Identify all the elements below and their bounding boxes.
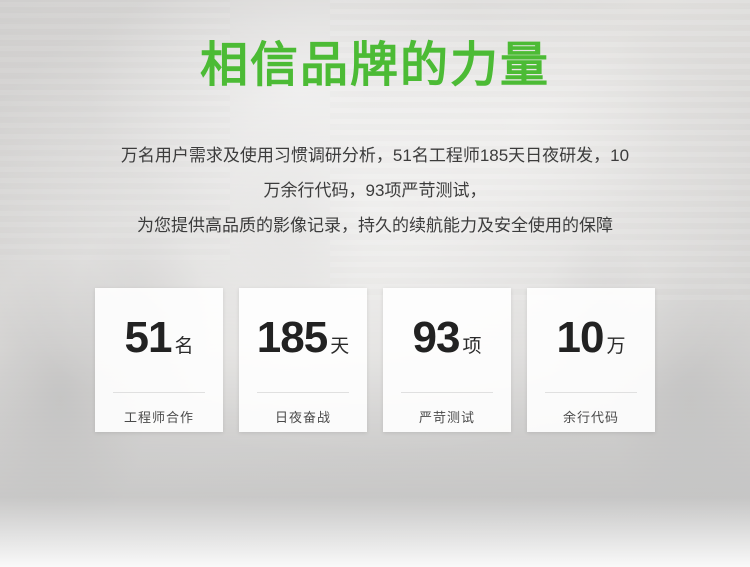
subcopy-line-1: 万名用户需求及使用习惯调研分析，51名工程师185天日夜研发，10 [50, 138, 700, 173]
stat-divider [545, 392, 637, 393]
stat-label: 余行代码 [563, 407, 619, 426]
stat-number: 185 [257, 316, 327, 360]
stat-label: 严苛测试 [419, 407, 475, 426]
stat-divider [401, 392, 493, 393]
stat-card: 93 项 严苛测试 [383, 288, 511, 432]
stat-unit: 万 [606, 337, 625, 356]
stat-divider [257, 392, 349, 393]
stat-label: 工程师合作 [124, 407, 194, 426]
subcopy-line-3: 为您提供高品质的影像记录，持久的续航能力及安全使用的保障 [50, 208, 700, 243]
stat-card: 185 天 日夜奋战 [239, 288, 367, 432]
stat-value: 51 名 [125, 316, 194, 360]
stat-number: 93 [413, 316, 460, 360]
subcopy: 万名用户需求及使用习惯调研分析，51名工程师185天日夜研发，10 万余行代码，… [50, 138, 700, 243]
stat-value: 10 万 [557, 316, 626, 360]
stat-value: 185 天 [257, 316, 349, 360]
stat-unit: 项 [462, 337, 481, 356]
stat-unit: 天 [330, 337, 349, 356]
stat-number: 51 [125, 316, 172, 360]
stat-card-list: 51 名 工程师合作 185 天 日夜奋战 93 项 [0, 288, 750, 432]
headline: 相信品牌的力量 [0, 42, 750, 90]
stat-value: 93 项 [413, 316, 482, 360]
stat-label: 日夜奋战 [275, 407, 331, 426]
subcopy-line-2: 万余行代码，93项严苛测试， [50, 173, 700, 208]
stat-unit: 名 [174, 337, 193, 356]
banner-content: 相信品牌的力量 万名用户需求及使用习惯调研分析，51名工程师185天日夜研发，1… [0, 0, 750, 567]
stat-number: 10 [557, 316, 604, 360]
stat-divider [113, 392, 205, 393]
brand-banner: 相信品牌的力量 万名用户需求及使用习惯调研分析，51名工程师185天日夜研发，1… [0, 0, 750, 567]
stat-card: 51 名 工程师合作 [95, 288, 223, 432]
stat-card: 10 万 余行代码 [527, 288, 655, 432]
